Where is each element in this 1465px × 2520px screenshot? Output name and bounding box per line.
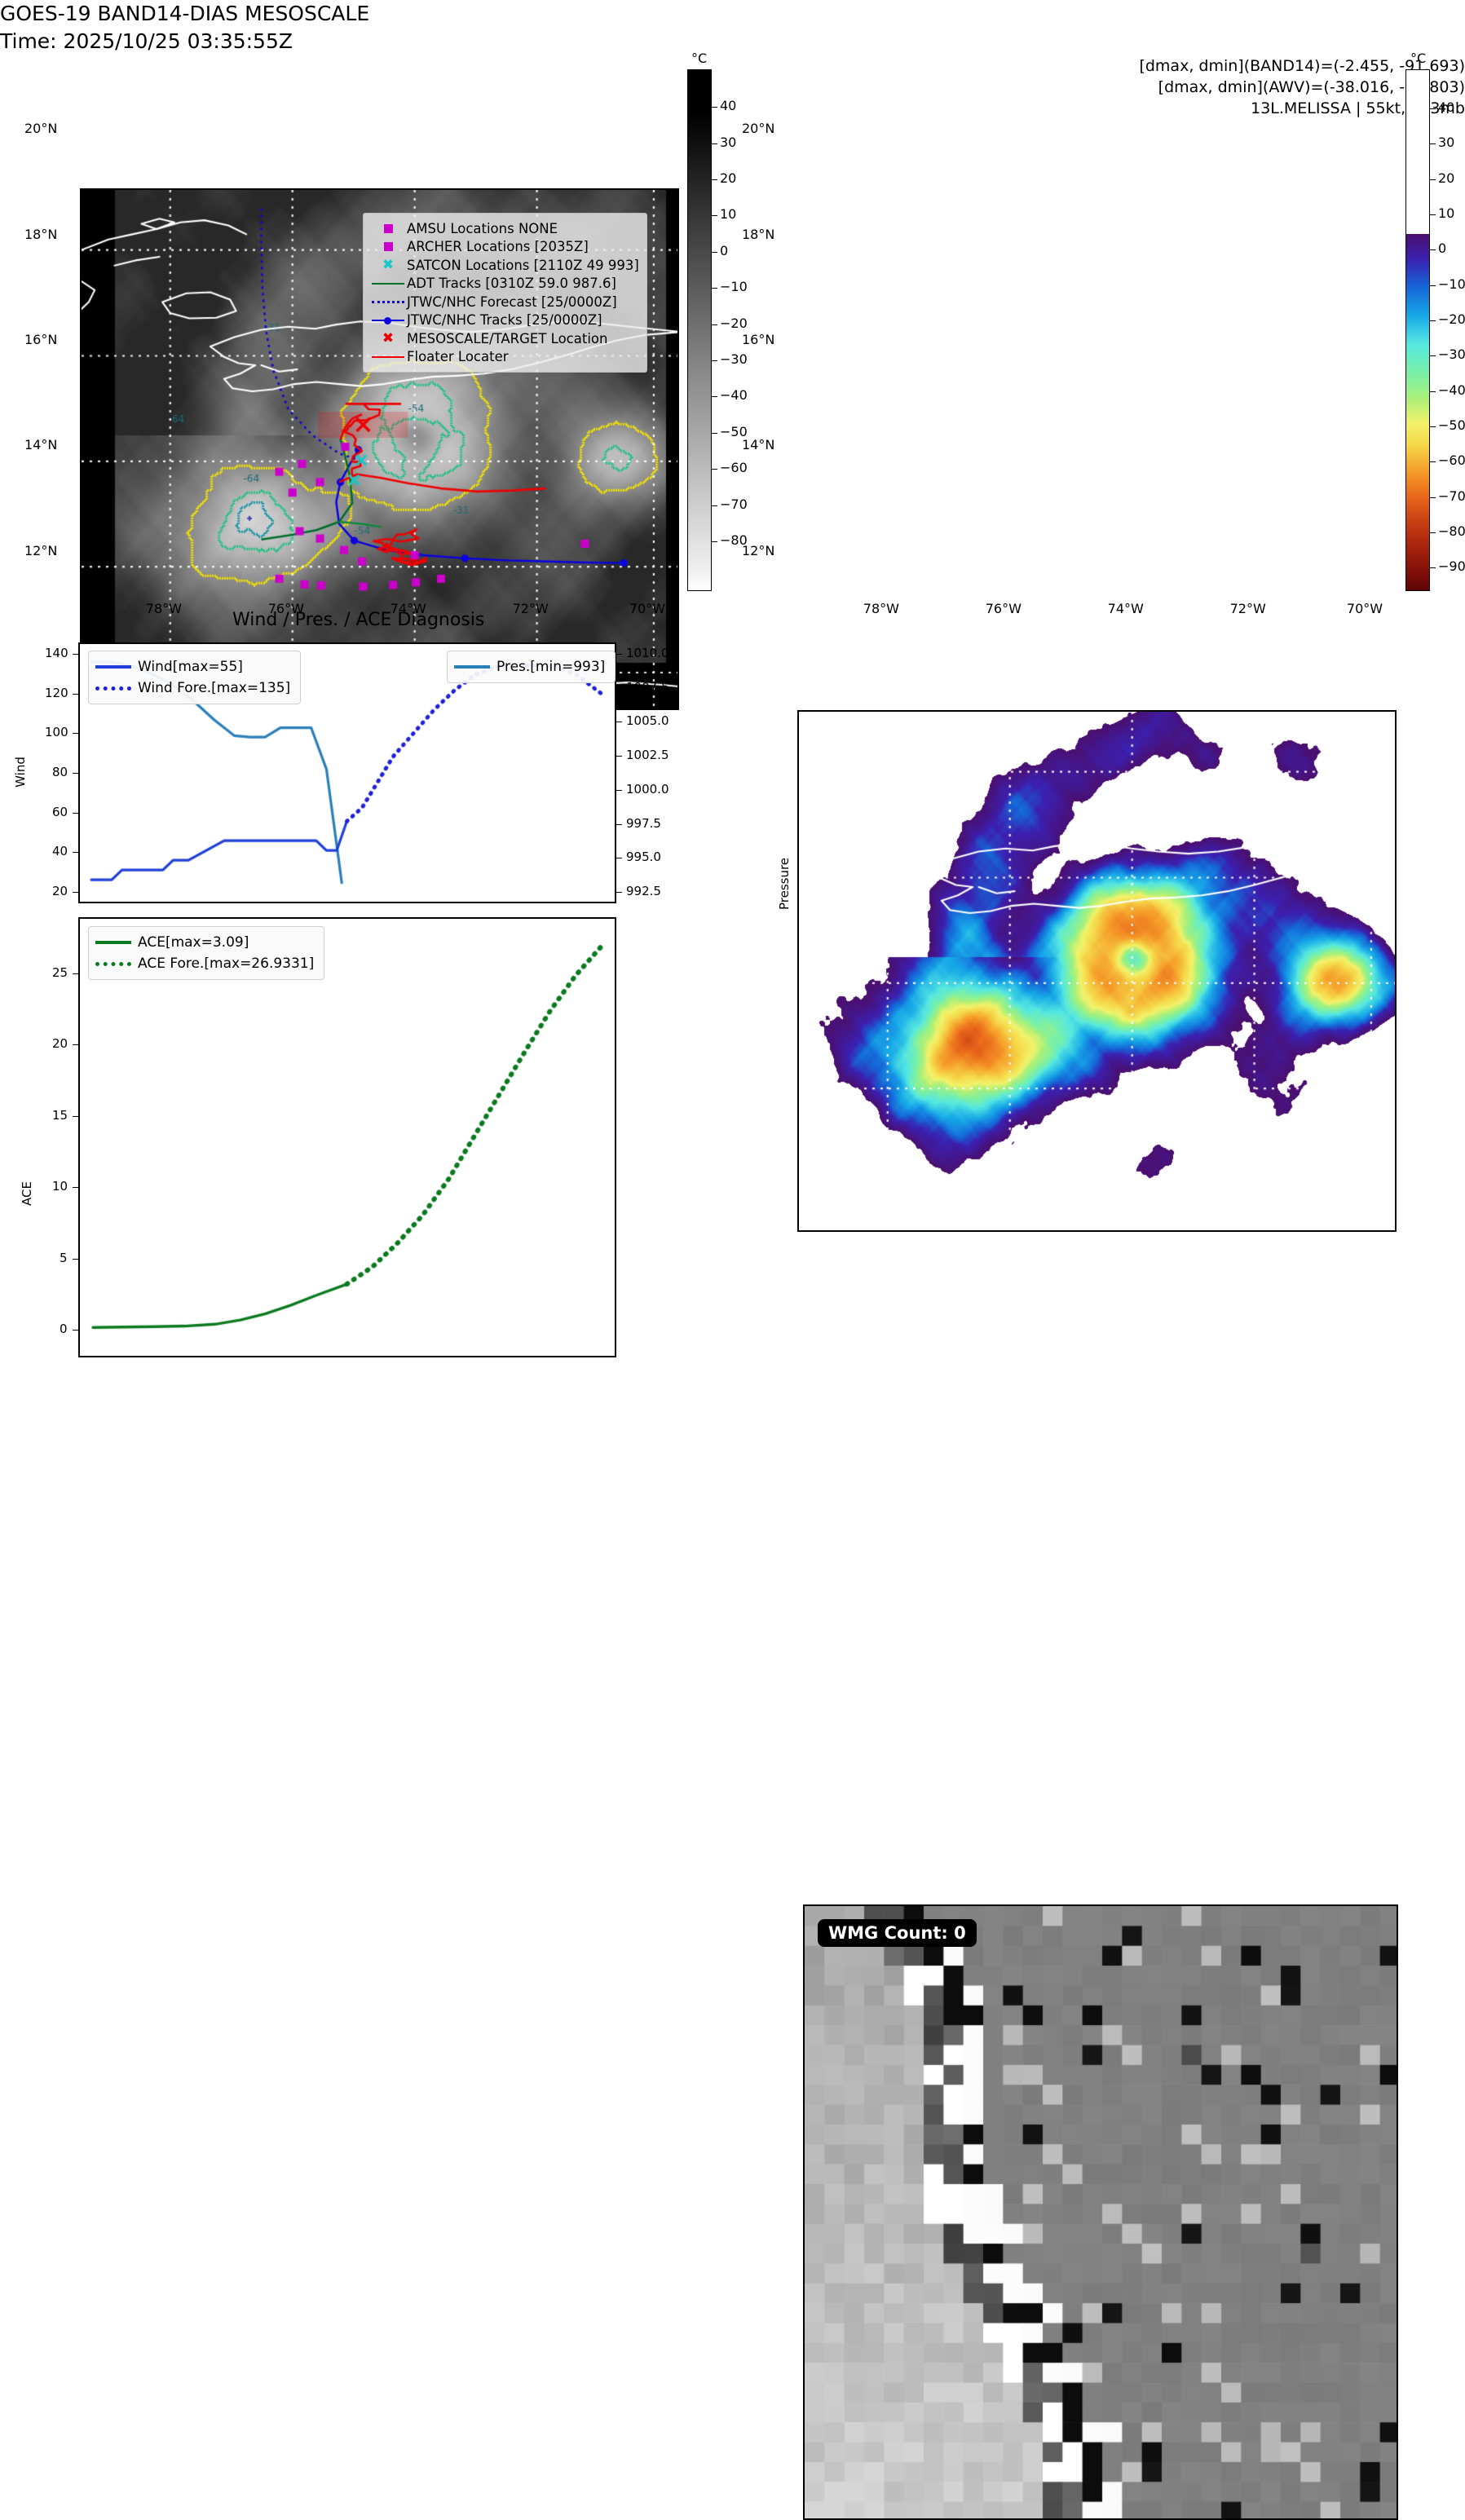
chart-ace[interactable] <box>78 917 616 1357</box>
cbleft-ticks-mark-8 <box>712 396 717 397</box>
cbleft-ticks-6: −20 <box>720 316 748 331</box>
wind-ytick-mark-4 <box>73 733 78 734</box>
map-legend-item-2: ✖SATCON Locations [2110Z 49 993] <box>369 256 639 275</box>
cbleft-ticks-7: −30 <box>720 351 748 367</box>
cbleft-ticks-1: 30 <box>720 135 736 150</box>
cbleft-ticks-mark-12 <box>712 541 717 542</box>
cbleft-ticks-5: −10 <box>720 279 748 294</box>
ace-ytick-mark-3 <box>73 1116 78 1117</box>
cbright-ticks-mark-2 <box>1430 179 1436 180</box>
cbleft-ticks-mark-10 <box>712 469 717 470</box>
cbright-ticks-mark-7 <box>1430 355 1436 356</box>
ace-forecast-line-swatch <box>95 962 138 966</box>
cbright-ticks-mark-1 <box>1430 143 1436 144</box>
legend-label-wind-forecast: Wind Fore.[max=135] <box>138 680 290 696</box>
mapleft-lat-3: 14°N <box>24 437 57 452</box>
map-legend-item-7: Floater Locater <box>369 348 639 367</box>
wind-ytick-mark-5 <box>73 694 78 695</box>
mapright-lat-0: 20°N <box>742 121 774 136</box>
cbleft-ticks-11: −70 <box>720 496 748 512</box>
wind-ytick-3: 80 <box>52 765 68 779</box>
map-legend-label-3: ADT Tracks [0310Z 59.0 987.6] <box>407 276 616 291</box>
cbright-ticks-12: −80 <box>1438 523 1465 539</box>
cbright-ticks-mark-6 <box>1430 320 1436 321</box>
x-marker-icon: ✖ <box>369 258 407 272</box>
chart-wind-legend-right: Pres.[min=993] <box>447 651 616 683</box>
ace-ytick-4: 20 <box>52 1036 68 1051</box>
cbleft-ticks-3: 10 <box>720 206 736 222</box>
legend-item-ace: ACE[max=3.09] <box>95 932 314 953</box>
cbright-ticks-10: −60 <box>1438 452 1465 468</box>
cbright-ticks-mark-11 <box>1430 497 1436 498</box>
map-legend-item-5: JTWC/NHC Tracks [25/0000Z] <box>369 311 639 330</box>
map-legend-item-3: ADT Tracks [0310Z 59.0 987.6] <box>369 275 639 293</box>
pres-ytick-3: 1000.0 <box>626 782 669 797</box>
pres-ytick-4: 1002.5 <box>626 748 669 762</box>
cbleft-ticks-0: 40 <box>720 98 736 113</box>
mapright-lon-1: 76°W <box>986 601 1022 616</box>
colorbar-right <box>1405 69 1430 591</box>
cbright-ticks-mark-13 <box>1430 567 1436 568</box>
cbleft-ticks-mark-2 <box>712 179 717 180</box>
cbright-ticks-5: −10 <box>1438 276 1465 292</box>
cbleft-ticks-mark-6 <box>712 324 717 325</box>
map-legend-label-6: MESOSCALE/TARGET Location <box>407 331 607 346</box>
legend-label-ace-forecast: ACE Fore.[max=26.9331] <box>138 955 314 972</box>
pres-ytick-mark-5 <box>616 722 622 722</box>
header-dmax-band14: [dmax, dmin](BAND14)=(-2.455, -91.693) <box>0 55 1465 77</box>
wind-ytick-5: 120 <box>45 686 68 700</box>
cbright-ticks-4: 0 <box>1438 241 1446 256</box>
wind-ytick-1: 40 <box>52 844 68 858</box>
pres-ytick-mark-4 <box>616 756 622 757</box>
cbright-ticks-mark-5 <box>1430 285 1436 286</box>
cbleft-ticks-mark-4 <box>712 252 717 253</box>
pres-ytick-6: 1007.5 <box>626 680 669 695</box>
square-marker-icon <box>369 224 407 233</box>
dotted-line-icon <box>369 301 407 303</box>
chart-ace-legend: ACE[max=3.09] ACE Fore.[max=26.9331] <box>88 926 324 980</box>
colorbar-right-title: °C <box>1410 51 1426 66</box>
map-legend-label-5: JTWC/NHC Tracks [25/0000Z] <box>407 312 602 328</box>
map-left-legend: AMSU Locations NONEARCHER Locations [203… <box>363 213 647 373</box>
legend-label-ace: ACE[max=3.09] <box>138 934 249 951</box>
mapright-lon-2: 74°W <box>1108 601 1144 616</box>
title-time: Time: 2025/10/25 03:35:55Z <box>0 28 1465 55</box>
cbright-ticks-mark-0 <box>1430 108 1436 109</box>
legend-item-wind: Wind[max=55] <box>95 656 290 677</box>
map-legend-label-7: Floater Locater <box>407 349 509 364</box>
pres-ytick-0: 992.5 <box>626 884 661 898</box>
cbright-ticks-7: −30 <box>1438 346 1465 362</box>
cbright-ticks-mark-4 <box>1430 249 1436 250</box>
map-legend-label-0: AMSU Locations NONE <box>407 221 558 236</box>
cbright-ticks-8: −40 <box>1438 382 1465 398</box>
chart-wind-y-axis-title: Wind <box>13 757 28 788</box>
cbleft-ticks-2: 20 <box>720 170 736 186</box>
ace-ytick-mark-0 <box>73 1330 78 1331</box>
chart-wind-y-axis-title-right: Pressure <box>777 858 792 910</box>
pres-ytick-2: 997.5 <box>626 816 661 831</box>
mapright-lon-3: 72°W <box>1230 601 1266 616</box>
ace-ytick-2: 10 <box>52 1179 68 1194</box>
page-title: GOES-19 BAND14-DIAS MESOSCALE Time: 2025… <box>0 0 1465 55</box>
cbleft-ticks-mark-0 <box>712 107 717 108</box>
wmg-count-badge: WMG Count: 0 <box>818 1919 977 1947</box>
wind-ytick-0: 20 <box>52 884 68 898</box>
legend-label-pressure: Pres.[min=993] <box>496 659 605 675</box>
wind-ytick-2: 60 <box>52 805 68 819</box>
mapright-lat-3: 14°N <box>742 437 774 452</box>
cbleft-ticks-4: 0 <box>720 243 728 258</box>
pres-ytick-5: 1005.0 <box>626 713 669 728</box>
legend-item-wind-forecast: Wind Fore.[max=135] <box>95 677 290 699</box>
mapleft-lon-3: 72°W <box>513 601 549 616</box>
cbleft-ticks-mark-3 <box>712 215 717 216</box>
ace-ytick-3: 15 <box>52 1108 68 1123</box>
cbright-ticks-0: 40 <box>1438 99 1454 115</box>
pres-ytick-mark-2 <box>616 824 622 825</box>
cbleft-ticks-8: −40 <box>720 387 748 403</box>
ace-ytick-mark-5 <box>73 973 78 974</box>
pres-ytick-7: 1010.0 <box>626 646 669 660</box>
mapleft-lat-4: 12°N <box>24 543 57 558</box>
mapleft-lat-1: 18°N <box>24 227 57 242</box>
cbleft-ticks-mark-11 <box>712 505 717 506</box>
wind-ytick-6: 140 <box>45 646 68 660</box>
chart-wind-legend-left: Wind[max=55] Wind Fore.[max=135] <box>88 651 301 704</box>
pres-ytick-mark-0 <box>616 892 622 893</box>
cbright-ticks-mark-3 <box>1430 214 1436 215</box>
mapright-lon-4: 70°W <box>1347 601 1383 616</box>
charts-supertitle: Wind / Pres. / ACE Diagnosis <box>232 610 484 630</box>
map-awv-ir-enhanced[interactable] <box>797 710 1397 1232</box>
map-legend-item-1: ARCHER Locations [2035Z] <box>369 238 639 257</box>
mapleft-lon-0: 78°W <box>146 601 182 616</box>
map-band14-ir[interactable]: AMSU Locations NONEARCHER Locations [203… <box>80 188 679 710</box>
mapleft-lon-4: 70°W <box>629 601 665 616</box>
cbright-ticks-9: −50 <box>1438 417 1465 433</box>
pres-ytick-mark-3 <box>616 790 622 791</box>
ace-ytick-mark-1 <box>73 1259 78 1260</box>
map-legend-item-4: JTWC/NHC Forecast [25/0000Z] <box>369 293 639 311</box>
cbright-ticks-mark-9 <box>1430 426 1436 427</box>
ace-ytick-mark-4 <box>73 1044 78 1045</box>
ace-ytick-mark-2 <box>73 1187 78 1188</box>
wind-line-swatch <box>95 665 138 669</box>
cbright-ticks-11: −70 <box>1438 488 1465 504</box>
colorbar-left-title: °C <box>691 51 707 66</box>
cbleft-ticks-10: −60 <box>720 460 748 475</box>
mapright-lat-1: 18°N <box>742 227 774 242</box>
wind-ytick-mark-1 <box>73 852 78 853</box>
cbright-ticks-2: 20 <box>1438 170 1454 186</box>
header-dmax-awv: [dmax, dmin](AWV)=(-38.016, -87.803) <box>0 77 1465 98</box>
cbright-ticks-mark-10 <box>1430 461 1436 462</box>
map-legend-label-1: ARCHER Locations [2035Z] <box>407 239 589 254</box>
pres-ytick-mark-7 <box>616 654 622 655</box>
cbleft-ticks-mark-9 <box>712 433 717 434</box>
cbright-ticks-mark-12 <box>1430 532 1436 533</box>
pres-ytick-1: 995.0 <box>626 850 661 864</box>
x-marker-icon: ✖ <box>369 332 407 346</box>
colorbar-left <box>687 69 712 591</box>
cbright-ticks-6: −20 <box>1438 311 1465 327</box>
cbleft-ticks-mark-1 <box>712 143 717 144</box>
square-marker-icon <box>369 242 407 251</box>
ace-line-swatch <box>95 941 138 944</box>
pressure-line-swatch <box>454 665 496 669</box>
pres-ytick-mark-6 <box>616 688 622 689</box>
mapleft-lat-0: 20°N <box>24 121 57 136</box>
chart-ace-y-axis-title: ACE <box>20 1181 34 1206</box>
mapright-lat-2: 16°N <box>742 332 774 347</box>
mapright-lon-0: 78°W <box>863 601 899 616</box>
mapright-lat-4: 12°N <box>742 543 774 558</box>
wind-ytick-mark-0 <box>73 892 78 893</box>
pres-ytick-mark-1 <box>616 858 622 858</box>
cbright-ticks-mark-8 <box>1430 391 1436 392</box>
wind-ytick-mark-2 <box>73 813 78 814</box>
ace-ytick-5: 25 <box>52 965 68 980</box>
solid-line-icon <box>369 283 407 285</box>
cbleft-ticks-mark-7 <box>712 360 717 361</box>
wind-ytick-mark-3 <box>73 773 78 774</box>
cbright-ticks-3: 10 <box>1438 205 1454 221</box>
map-legend-item-6: ✖MESOSCALE/TARGET Location <box>369 329 639 348</box>
mapleft-lat-2: 16°N <box>24 332 57 347</box>
title-product: GOES-19 BAND14-DIAS MESOSCALE <box>0 0 1465 28</box>
wind-ytick-mark-6 <box>73 654 78 655</box>
legend-item-pressure: Pres.[min=993] <box>454 656 605 677</box>
solid-line-icon <box>369 356 407 358</box>
ace-ytick-0: 0 <box>60 1322 68 1336</box>
cbright-ticks-1: 30 <box>1438 135 1454 150</box>
map-legend-item-0: AMSU Locations NONE <box>369 219 639 238</box>
legend-label-wind: Wind[max=55] <box>138 659 243 675</box>
map-legend-label-4: JTWC/NHC Forecast [25/0000Z] <box>407 294 617 310</box>
ace-ytick-1: 5 <box>60 1251 68 1265</box>
legend-item-ace-forecast: ACE Fore.[max=26.9331] <box>95 953 314 974</box>
wind-ytick-4: 100 <box>45 725 68 739</box>
cbleft-ticks-mark-5 <box>712 288 717 289</box>
wmg-grid-panel[interactable]: WMG Count: 0 <box>803 1904 1398 2520</box>
cbright-ticks-13: −90 <box>1438 558 1465 574</box>
line-with-dot-icon <box>369 320 407 321</box>
map-legend-label-2: SATCON Locations [2110Z 49 993] <box>407 258 639 273</box>
wind-forecast-line-swatch <box>95 686 138 691</box>
